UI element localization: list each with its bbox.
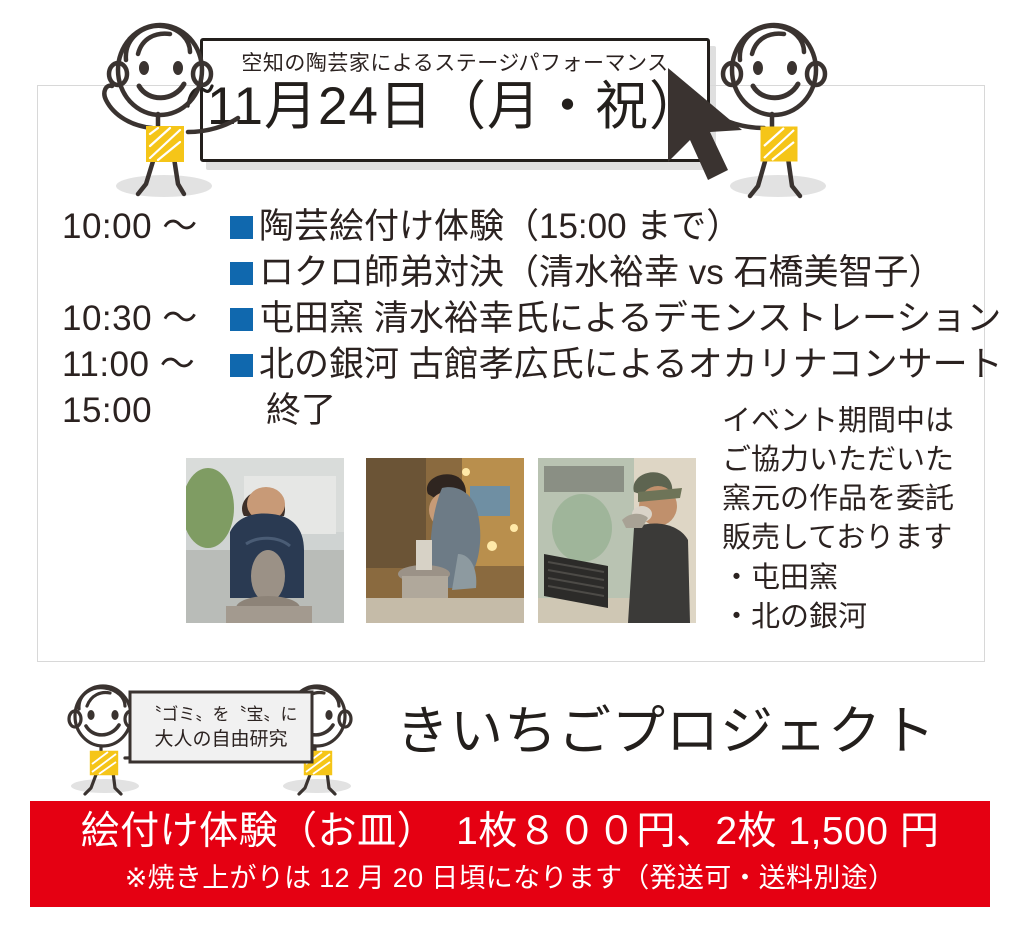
sign-line-2: 大人の自由研究 [128,728,314,752]
note-line: ・屯田窯 [722,559,977,598]
schedule-row: 10:30 〜 屯田窯 清水裕幸氏によるデモンストレーション [62,296,982,342]
schedule-row: ロクロ師弟対決（清水裕幸 vs 石橋美智子） [62,250,982,296]
note-line: ・北の銀河 [722,598,977,637]
schedule-list: 10:00 〜 陶芸絵付け体験（15:00 まで） ロクロ師弟対決（清水裕幸 v… [62,204,982,434]
blue-square-bullet-icon [230,216,253,239]
headline-date: 11月24日（月・祝） [200,78,710,136]
photo-potter-outdoor [186,458,344,623]
note-line: 窯元の作品を委託 [722,480,977,519]
schedule-entry: ロクロ師弟対決（清水裕幸 vs 石橋美智子） [230,250,943,296]
consignment-note: イベント期間中は ご協力いただいた 窯元の作品を委託 販売しております ・屯田窯… [722,402,977,637]
headline-kicker: 空知の陶芸家によるステージパフォーマンス [200,47,710,77]
photo-potter-studio [366,458,524,623]
schedule-text: ロクロ師弟対決（清水裕幸 vs 石橋美智子） [259,250,943,296]
blue-square-bullet-icon [230,308,253,331]
schedule-entry: 屯田窯 清水裕幸氏によるデモンストレーション [230,296,1001,342]
blue-square-bullet-icon [230,354,253,377]
schedule-row: 11:00 〜 北の銀河 古館孝広氏によるオカリナコンサート [62,342,982,388]
photo-ocarina-player [538,458,696,623]
blue-square-bullet-icon [230,262,253,285]
note-line: 販売しております [722,519,977,558]
headline-banner: 空知の陶芸家によるステージパフォーマンス 11月24日（月・祝） [200,38,710,162]
project-title: きいちごプロジェクト [396,705,936,758]
price-main-text: 絵付け体験（お皿） 1枚８００円、2枚 1,500 円 [30,810,990,855]
schedule-time: 10:00 〜 [62,204,230,250]
schedule-text: 北の銀河 古館孝広氏によるオカリナコンサート [259,342,1003,388]
schedule-text: 終了 [266,388,336,434]
sign-board: 〝ゴミ〟を〝宝〟に 大人の自由研究 [128,690,314,766]
schedule-text: 屯田窯 清水裕幸氏によるデモンストレーション [259,296,1001,342]
schedule-entry: 陶芸絵付け体験（15:00 まで） [230,204,741,250]
price-banner: 絵付け体験（お皿） 1枚８００円、2枚 1,500 円 ※焼き上がりは 12 月… [30,801,990,907]
schedule-time: 11:00 〜 [62,342,230,388]
schedule-time: 15:00 [62,388,230,434]
schedule-text: 陶芸絵付け体験（15:00 まで） [259,204,741,250]
cursor-arrow-icon [660,62,765,187]
schedule-time: 10:30 〜 [62,296,230,342]
doodle-figure-left [92,8,242,208]
schedule-entry: 北の銀河 古館孝広氏によるオカリナコンサート [230,342,1003,388]
sign-line-1: 〝ゴミ〟を〝宝〟に [128,704,314,725]
schedule-entry: 終了 [230,388,336,434]
schedule-row: 10:00 〜 陶芸絵付け体験（15:00 まで） [62,204,982,250]
note-line: ご協力いただいた [722,441,977,480]
price-sub-text: ※焼き上がりは 12 月 20 日頃になります（発送可・送料別途） [30,863,990,894]
note-line: イベント期間中は [722,402,977,441]
